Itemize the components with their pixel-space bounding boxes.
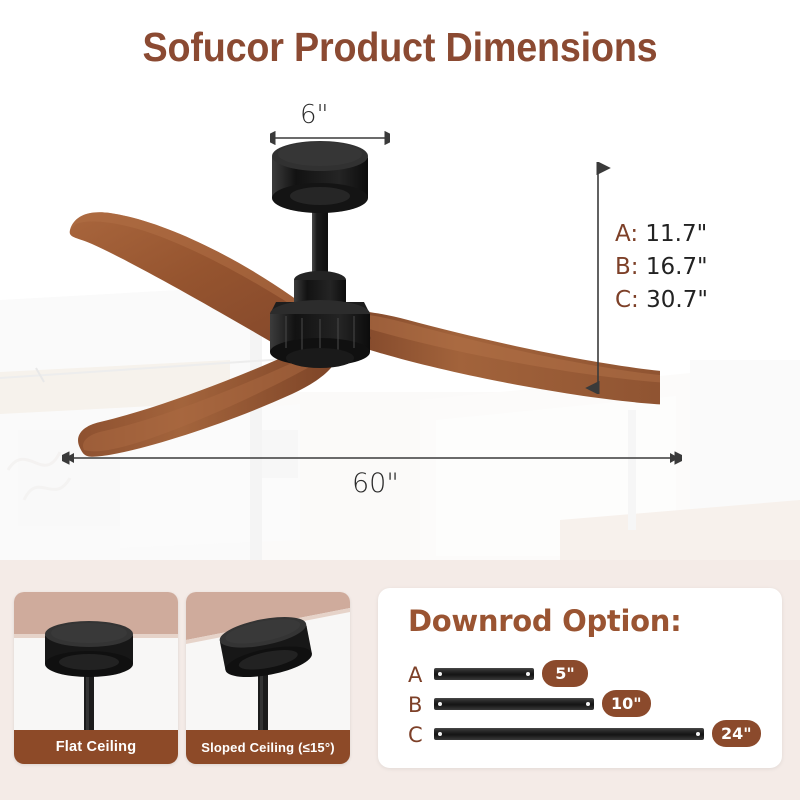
hero-section: Sofucor Product Dimensions 6": [0, 0, 800, 560]
ceiling-card-sloped-caption: Sloped Ceiling (≤15°): [186, 730, 350, 764]
ceiling-mount-cards: Flat Ceiling: [14, 592, 350, 764]
downrod-letter-a: A: [408, 663, 422, 687]
blade-span-label: 60": [352, 468, 399, 499]
height-value-a: 11.7": [645, 221, 707, 247]
downrod-endcap-icon: [696, 732, 700, 736]
downrod-endcap-icon: [438, 672, 442, 676]
downrod-letter-b: B: [408, 693, 422, 717]
height-key-a: A:: [615, 221, 638, 247]
downrod-endcap-icon: [526, 672, 530, 676]
blade-span-arrow: [62, 448, 682, 468]
downrod-letter-c: C: [408, 723, 423, 747]
downrod-endcap-icon: [438, 732, 442, 736]
sloped-ceiling-illustration: [186, 592, 350, 732]
downrod-endcap-icon: [438, 702, 442, 706]
downrod-badge-a: 5": [542, 660, 588, 687]
ceiling-fan-illustration: [40, 130, 660, 470]
downrod-bar-c: [434, 728, 704, 740]
height-key-c: C:: [615, 287, 639, 313]
height-values-list: A: 11.7" B: 16.7" C: 30.7": [615, 218, 708, 317]
page-title: Sofucor Product Dimensions: [32, 24, 768, 71]
downrod-bar-b: [434, 698, 594, 710]
product-dimensions-infographic: Sofucor Product Dimensions 6": [0, 0, 800, 800]
downrod-heading: Downrod Option:: [408, 604, 681, 638]
height-value-c: 30.7": [646, 287, 708, 313]
canopy-width-label: 6": [300, 100, 329, 130]
height-key-b: B:: [615, 254, 639, 280]
height-row-c: C: 30.7": [615, 284, 708, 317]
downrod-endcap-icon: [586, 702, 590, 706]
height-value-b: 16.7": [646, 254, 708, 280]
height-row-a: A: 11.7": [615, 218, 708, 251]
downrod-option-panel: Downrod Option: A 5" B 10": [378, 588, 782, 768]
ceiling-card-flat-caption: Flat Ceiling: [14, 730, 178, 764]
downrod-badge-c: 24": [712, 720, 761, 747]
downrod-badge-b: 10": [602, 690, 651, 717]
flat-ceiling-illustration: [14, 592, 178, 732]
downrod-bar-a: [434, 668, 534, 680]
height-dimension-arrow: [585, 162, 611, 394]
mounting-and-downrod-section: Flat Ceiling: [0, 560, 800, 800]
ceiling-card-sloped[interactable]: Sloped Ceiling (≤15°): [186, 592, 350, 764]
ceiling-card-flat[interactable]: Flat Ceiling: [14, 592, 178, 764]
height-row-b: B: 16.7": [615, 251, 708, 284]
